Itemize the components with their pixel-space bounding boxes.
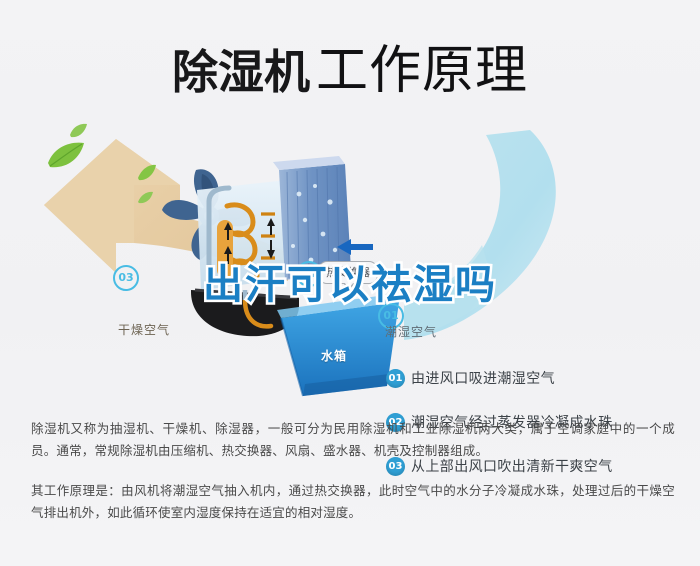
leaf-icon <box>68 121 88 141</box>
dry-air-label: 干燥空气 <box>118 321 170 338</box>
humid-air-label: 潮湿空气 <box>385 323 437 340</box>
step-number: 01 <box>386 369 405 388</box>
step-text: 由进风口吸进潮湿空气 <box>411 368 555 388</box>
body-copy: 除湿机又称为抽湿机、干燥机、除湿器，一般可分为民用除湿机和工业除湿机两大类，属于… <box>31 418 675 542</box>
illustration-stage: 03 02 01 热交换器 干燥空气 潮湿空气 水箱 01 由进风口吸进潮湿空气… <box>0 115 700 400</box>
page-title: 除湿机工作原理 <box>0 28 700 103</box>
page-title-part1: 除湿机 <box>172 45 310 99</box>
page-title-part2: 工作原理 <box>316 41 528 101</box>
paragraph-1: 除湿机又称为抽湿机、干燥机、除湿器，一般可分为民用除湿机和工业除湿机两大类，属于… <box>31 418 675 462</box>
paragraph-2: 其工作原理是：由风机将潮湿空气抽入机内，通过热交换器，此时空气中的水分子冷凝成水… <box>31 480 675 524</box>
overlay-headline: 出汗可以祛湿吗 <box>0 262 700 308</box>
water-tank-label: 水箱 <box>321 347 347 364</box>
leaf-icon <box>44 137 88 175</box>
infographic-page: 除湿机工作原理 <box>0 0 700 566</box>
list-item: 01 由进风口吸进潮湿空气 <box>386 363 686 393</box>
